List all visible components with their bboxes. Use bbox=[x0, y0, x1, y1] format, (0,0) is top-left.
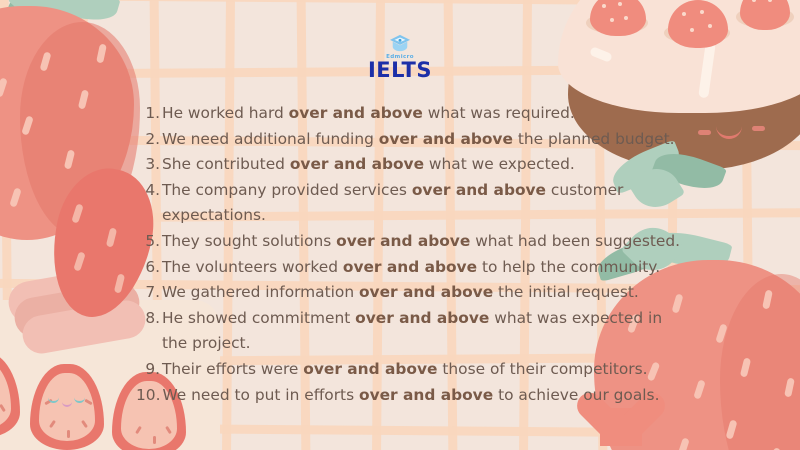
highlighted-phrase: over and above bbox=[355, 309, 489, 327]
list-item: 8.He showed commitment over and above wh… bbox=[136, 306, 688, 357]
sentence-prefix: We need to put in efforts bbox=[162, 386, 359, 404]
slide-canvas: Edmicro IELTS 1.He worked hard over and … bbox=[0, 0, 800, 450]
list-item-text: He showed commitment over and above what… bbox=[162, 306, 688, 357]
heart-decoration bbox=[600, 408, 642, 446]
sentence-suffix: what was required. bbox=[423, 104, 575, 122]
highlighted-phrase: over and above bbox=[412, 181, 546, 199]
strawberry-mouth-icon bbox=[62, 400, 72, 407]
list-item-number: 2. bbox=[136, 127, 162, 153]
highlighted-phrase: over and above bbox=[359, 386, 493, 404]
sentence-suffix: to achieve our goals. bbox=[493, 386, 659, 404]
list-item-number: 6. bbox=[136, 255, 162, 281]
sentence-prefix: The company provided services bbox=[162, 181, 412, 199]
strawberry-eye-right-icon bbox=[74, 394, 85, 403]
sentence-suffix: what had been suggested. bbox=[470, 232, 680, 250]
list-item: 5.They sought solutions over and above w… bbox=[136, 229, 688, 255]
sentence-prefix: We gathered information bbox=[162, 283, 359, 301]
sentence-suffix: the initial request. bbox=[493, 283, 639, 301]
list-item-number: 5. bbox=[136, 229, 162, 255]
sentence-prefix: We need additional funding bbox=[162, 130, 379, 148]
list-item-number: 9. bbox=[136, 357, 162, 383]
list-item-number: 10. bbox=[136, 383, 162, 409]
highlighted-phrase: over and above bbox=[289, 104, 423, 122]
sentence-suffix: to help the community. bbox=[477, 258, 660, 276]
highlighted-phrase: over and above bbox=[343, 258, 477, 276]
list-item-text: She contributed over and above what we e… bbox=[162, 152, 688, 178]
list-item: 3.She contributed over and above what we… bbox=[136, 152, 688, 178]
highlighted-phrase: over and above bbox=[303, 360, 437, 378]
list-item-text: We gathered information over and above t… bbox=[162, 280, 688, 306]
highlighted-phrase: over and above bbox=[379, 130, 513, 148]
list-item-text: We need to put in efforts over and above… bbox=[162, 383, 688, 409]
sentence-prefix: They sought solutions bbox=[162, 232, 336, 250]
sentence-prefix: Their efforts were bbox=[162, 360, 303, 378]
list-item: 4.The company provided services over and… bbox=[136, 178, 688, 229]
sentence-prefix: He worked hard bbox=[162, 104, 289, 122]
list-item-text: Their efforts were over and above those … bbox=[162, 357, 688, 383]
list-item-text: The company provided services over and a… bbox=[162, 178, 688, 229]
list-item: 1.He worked hard over and above what was… bbox=[136, 101, 688, 127]
list-item: 6.The volunteers worked over and above t… bbox=[136, 255, 688, 281]
list-item-number: 8. bbox=[136, 306, 162, 332]
list-item-number: 4. bbox=[136, 178, 162, 204]
list-item: 10.We need to put in efforts over and ab… bbox=[136, 383, 688, 409]
list-item-text: He worked hard over and above what was r… bbox=[162, 101, 688, 127]
list-item-number: 7. bbox=[136, 280, 162, 306]
sentence-suffix: those of their competitors. bbox=[437, 360, 647, 378]
sentence-list: 1.He worked hard over and above what was… bbox=[136, 101, 688, 408]
sentence-suffix: what we expected. bbox=[424, 155, 575, 173]
sentence-prefix: The volunteers worked bbox=[162, 258, 343, 276]
sentence-suffix: the planned budget. bbox=[513, 130, 675, 148]
highlighted-phrase: over and above bbox=[290, 155, 424, 173]
list-item-text: We need additional funding over and abov… bbox=[162, 127, 688, 153]
list-item-text: They sought solutions over and above wha… bbox=[162, 229, 688, 255]
highlighted-phrase: over and above bbox=[336, 232, 470, 250]
highlighted-phrase: over and above bbox=[359, 283, 493, 301]
list-item: 2.We need additional funding over and ab… bbox=[136, 127, 688, 153]
list-item-number: 1. bbox=[136, 101, 162, 127]
list-item: 7.We gathered information over and above… bbox=[136, 280, 688, 306]
strawberry-eye-left-icon bbox=[48, 394, 59, 403]
sentence-prefix: He showed commitment bbox=[162, 309, 355, 327]
list-item: 9.Their efforts were over and above thos… bbox=[136, 357, 688, 383]
list-item-text: The volunteers worked over and above to … bbox=[162, 255, 688, 281]
sentence-prefix: She contributed bbox=[162, 155, 290, 173]
list-item-number: 3. bbox=[136, 152, 162, 178]
